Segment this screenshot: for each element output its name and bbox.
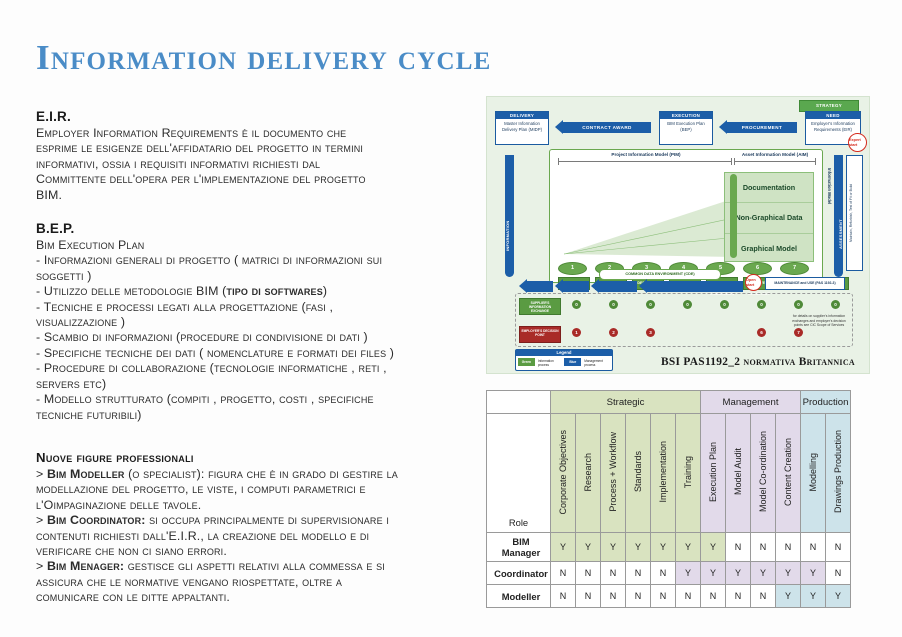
cell: N — [626, 585, 651, 608]
bottom-flow-arrow-2 — [563, 281, 589, 292]
cell: N — [751, 585, 776, 608]
cell: N — [826, 533, 851, 562]
bep-heading: B.E.P. — [36, 220, 468, 237]
diagram-legend: Legend Green Information process Blue Ma… — [515, 349, 613, 371]
matrix-group-row: Strategic Management Production — [487, 391, 851, 414]
stage-dot-6: 6 — [743, 262, 772, 275]
figure-line: verificare che non ci siano errori. — [36, 544, 468, 559]
node-execution-body: BIM Execution Plan (BEP) — [660, 119, 712, 135]
cell: Y — [751, 562, 776, 585]
cell: N — [826, 562, 851, 585]
bep-line: - Utilizzo delle metodologie BIM (tipo d… — [36, 284, 468, 299]
cell: N — [751, 533, 776, 562]
legend-items: Green Information process Blue Managemen… — [516, 356, 612, 369]
pim-aim-container: Project Information Model (PIM) Asset In… — [549, 149, 823, 283]
information-exchange-panel: SUPPLIER'S INFORMATION EXCHANGE EMPLOYER… — [515, 293, 853, 347]
cell: Y — [676, 533, 701, 562]
legend-swatch-blue: Blue — [564, 358, 581, 366]
bep-line: - Scambio di informazioni (procedure di … — [36, 330, 468, 345]
cell: N — [601, 585, 626, 608]
employer-dot: 7 — [794, 328, 803, 337]
col-header-training: Training — [676, 414, 701, 533]
bottom-flow-arrow-1 — [527, 281, 553, 292]
employer-decision-tag: EMPLOYER'S DECISION POINT — [519, 326, 561, 343]
node-execution-header: EXECUTION — [660, 112, 712, 119]
cell: N — [676, 585, 701, 608]
left-vertical-label: INFORMATION — [505, 179, 510, 251]
cell: Y — [701, 533, 726, 562]
supplier-dot: 0 — [572, 300, 581, 309]
open-start-label: Open start — [746, 278, 761, 287]
maintenance-box: MAINTENANCE and USE (PAS 1192-3) — [765, 277, 845, 290]
start-badge-label: Expert start — [849, 138, 866, 147]
col-header-content-creation: Content Creation — [776, 414, 801, 533]
group-header-management: Management — [701, 391, 801, 414]
eir-line: BIM. — [36, 188, 468, 203]
figure-line: l'Oimpaginazione delle tavole. — [36, 498, 468, 513]
assessment-detail-box: Maintain, Refurbish, Test of Fit or Buil… — [846, 155, 863, 271]
figure-line: modellazione del progetto, le viste, i c… — [36, 482, 468, 497]
information-model-stack: Documentation Non-Graphical Data Graphic… — [724, 172, 814, 262]
start-badge: Expert start — [848, 133, 867, 152]
figure-line: > Bim Modeller (o specialist): figura ch… — [36, 467, 468, 482]
bep-bold-fragment: tipo di softwares — [226, 284, 322, 298]
im-row-documentation: Documentation — [725, 173, 813, 203]
table-row: Modeller N N N N N N N N N Y Y Y — [487, 585, 851, 608]
cell: Y — [601, 533, 626, 562]
col-header-standards: Standards — [626, 414, 651, 533]
figure-heading: Nuove figure professionali — [36, 449, 468, 466]
bottom-flow-arrow-4 — [647, 281, 743, 292]
legend-label-management: Management process — [584, 358, 610, 367]
diagram-caption: BSI PAS1192_2 normativa Britannica — [661, 356, 855, 368]
cell: N — [801, 533, 826, 562]
cell: Y — [551, 533, 576, 562]
cell: N — [576, 562, 601, 585]
bep-line: soggetti ) — [36, 269, 468, 284]
matrix-column-header-row: Role Corporate Objectives Research Proce… — [487, 414, 851, 533]
employer-dot: 2 — [609, 328, 618, 337]
open-start-badge: Open start — [745, 274, 762, 291]
im-row-nongraphical: Non-Graphical Data — [725, 203, 813, 233]
supplier-dot: 0 — [683, 300, 692, 309]
cell: Y — [776, 585, 801, 608]
cell: N — [776, 533, 801, 562]
cell: N — [576, 585, 601, 608]
axis-rule-aim — [734, 161, 816, 162]
bep-line: visualizzazione ) — [36, 315, 468, 330]
eir-line: informativi, ossia i requisiti informati… — [36, 157, 468, 172]
employer-dot: 1 — [572, 328, 581, 337]
cell: N — [726, 533, 751, 562]
col-header-drawings-production: Drawings Production — [826, 414, 851, 533]
supplier-dot: 0 — [794, 300, 803, 309]
node-delivery-body: Master Information Delivery Plan (MIDP) — [496, 119, 548, 135]
table-row: BIM Manager Y Y Y Y Y Y Y N N N N N — [487, 533, 851, 562]
figure-line: > Bim Menager: gestisce gli aspetti rela… — [36, 559, 468, 574]
col-header-research: Research — [576, 414, 601, 533]
cell: N — [626, 562, 651, 585]
cell: N — [726, 585, 751, 608]
spacer — [36, 203, 468, 220]
section-figure-professionali: Nuove figure professionali > Bim Modelle… — [36, 449, 468, 606]
eir-line: Employer Information Requirements è il d… — [36, 126, 468, 141]
col-header-model-audit: Model Audit — [726, 414, 751, 533]
bep-subtitle: Bim Execution Plan — [36, 238, 468, 253]
legend-swatch-green: Green — [518, 358, 535, 366]
bep-line: - Modello strutturato (compiti , progett… — [36, 392, 468, 407]
cell: Y — [826, 585, 851, 608]
cell: N — [551, 562, 576, 585]
supplier-exchange-tag: SUPPLIER'S INFORMATION EXCHANGE — [519, 298, 561, 315]
bep-line: - Specifiche tecniche dei dati ( nomencl… — [36, 346, 468, 361]
figure-line: > Bim Coordinator: si occupa principalme… — [36, 513, 468, 528]
cell: N — [551, 585, 576, 608]
cell: N — [601, 562, 626, 585]
cell: Y — [801, 562, 826, 585]
figure-line: assicura che le normative vengano riospe… — [36, 575, 468, 590]
supplier-dot: 0 — [646, 300, 655, 309]
cell: Y — [626, 533, 651, 562]
legend-label-information: Information process — [538, 358, 562, 367]
group-header-production: Production — [801, 391, 851, 414]
section-eir: E.I.R. Employer Information Requirements… — [36, 108, 468, 203]
information-model-side-label: Information Model — [827, 168, 832, 204]
axis-label-pim: Project Information Model (PIM) — [556, 152, 736, 157]
col-header-execution-plan: Execution Plan — [701, 414, 726, 533]
axis-label-aim: Asset Information Model (AIM) — [732, 152, 818, 157]
col-header-model-coordination: Model Co-ordination — [751, 414, 776, 533]
im-row-graphical: Graphical Model — [725, 234, 813, 263]
right-vertical-label: ASSESSMENT — [838, 183, 843, 249]
arrow-contract-award: CONTRACT AWARD — [563, 122, 651, 133]
employer-dot: 3 — [646, 328, 655, 337]
supplier-dot: 0 — [609, 300, 618, 309]
supplier-dot: 0 — [720, 300, 729, 309]
cell: Y — [726, 562, 751, 585]
arrow-procurement: PROCUREMENT — [727, 122, 797, 133]
cell: Y — [576, 533, 601, 562]
col-header-modelling: Modelling — [801, 414, 826, 533]
employer-dot: 6 — [757, 328, 766, 337]
col-header-process-workflow: Process + Workflow — [601, 414, 626, 533]
matrix-corner-cell — [487, 391, 551, 414]
cell: Y — [701, 562, 726, 585]
cell: N — [701, 585, 726, 608]
cell: Y — [651, 533, 676, 562]
supplier-dot: 0 — [757, 300, 766, 309]
data-drops-bar — [730, 174, 737, 258]
cell: N — [651, 562, 676, 585]
col-header-corporate-objectives: Corporate Objectives — [551, 414, 576, 533]
figure-line: comunicare con le ditte appaltanti. — [36, 590, 468, 605]
page-title: Information delivery cycle — [36, 38, 491, 78]
col-header-implementation: Implementation — [651, 414, 676, 533]
cell: Y — [776, 562, 801, 585]
bep-line: - Informazioni generali di progetto ( ma… — [36, 253, 468, 268]
bep-line: servers etc) — [36, 377, 468, 392]
node-need-header: NEED — [806, 112, 860, 119]
bep-line: tecniche futuribili) — [36, 408, 468, 423]
row-label-coordinator: Coordinator — [487, 562, 551, 585]
eir-line: Committente dell'opera per l'implementaz… — [36, 172, 468, 187]
matrix-role-header: Role — [487, 414, 551, 533]
row-label-modeller: Modeller — [487, 585, 551, 608]
cell: N — [651, 585, 676, 608]
cde-label: COMMON DATA ENVIRONMENT (CDE) — [599, 269, 721, 280]
role-responsibility-matrix: Strategic Management Production Role Cor… — [486, 390, 851, 608]
left-text-column: E.I.R. Employer Information Requirements… — [36, 108, 468, 606]
row-label-bim-manager: BIM Manager — [487, 533, 551, 562]
node-delivery: DELIVERY Master Information Delivery Pla… — [495, 111, 549, 145]
table-row: Coordinator N N N N N Y Y Y Y Y Y N — [487, 562, 851, 585]
bottom-flow-arrow-3 — [599, 281, 637, 292]
supplier-dot: 0 — [831, 300, 840, 309]
node-need-body: Employer's Information Requirements (EIR… — [806, 119, 860, 135]
spacer — [36, 423, 468, 449]
node-delivery-header: DELIVERY — [496, 112, 548, 119]
node-execution: EXECUTION BIM Execution Plan (BEP) — [659, 111, 713, 145]
bep-line-text: Utilizzo delle metodologie BIM ( — [44, 284, 227, 298]
eir-line: esprime le esigenze dell'affidatario del… — [36, 141, 468, 156]
eir-heading: E.I.R. — [36, 108, 468, 125]
stage-dot-7: 7 — [780, 262, 809, 275]
figure-line: contenuti richiesti dall'E.I.R., la crea… — [36, 529, 468, 544]
exchange-note: for details on supplier's information ex… — [789, 314, 849, 328]
stage-dot-1: 1 — [558, 262, 587, 275]
bep-line: - Tecniche e processi legati alla proget… — [36, 300, 468, 315]
cell: Y — [801, 585, 826, 608]
group-header-strategic: Strategic — [551, 391, 701, 414]
cell: Y — [676, 562, 701, 585]
slide-page: Information delivery cycle E.I.R. Employ… — [0, 0, 902, 637]
bep-line: - Procedure di collaborazione (tecnologi… — [36, 361, 468, 376]
section-bep: B.E.P. Bim Execution Plan - Informazioni… — [36, 220, 468, 423]
axis-rule-pim — [558, 161, 732, 162]
pas1192-diagram: STRATEGY DELIVERY Master Information Del… — [486, 96, 870, 374]
